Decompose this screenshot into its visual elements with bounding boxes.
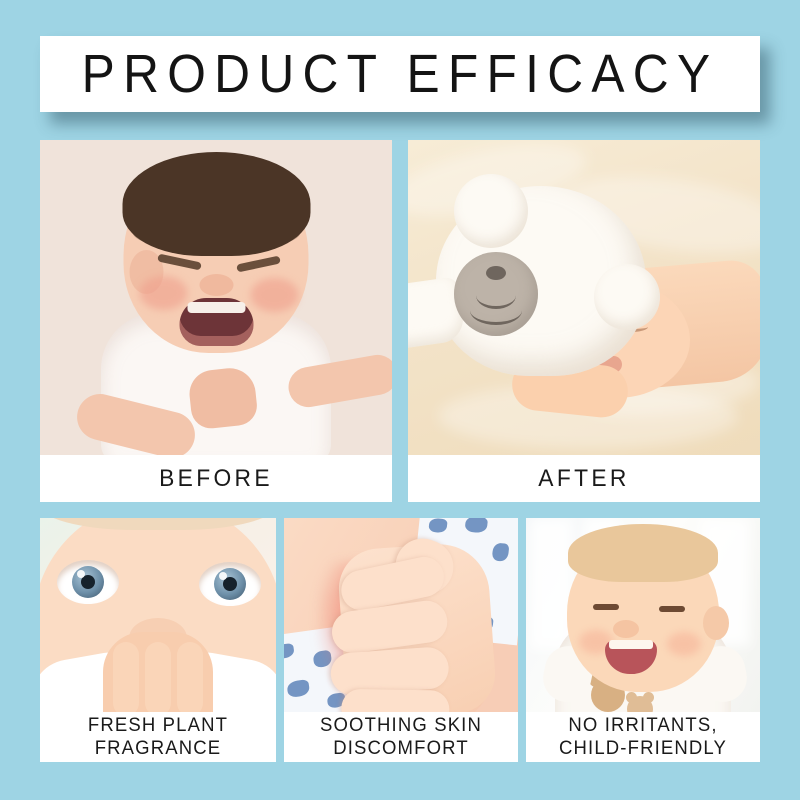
benefit-caption-no-irritants-child-friendly: NO IRRITANTS, CHILD-FRIENDLY: [532, 712, 754, 762]
benefit-caption-soothing-skin-discomfort: SOOTHING SKIN DISCOMFORT: [290, 712, 512, 762]
hand-shape: [103, 632, 213, 712]
caption-line-2: CHILD-FRIENDLY: [559, 737, 727, 760]
finger: [329, 646, 450, 696]
left-eye: [593, 604, 619, 610]
eye-glint: [77, 570, 85, 578]
head-shape: [567, 534, 719, 692]
floral-dot: [465, 518, 489, 534]
bear-print-small: [627, 696, 653, 712]
scratching-hand-shape: [336, 541, 497, 712]
hand-shape: [187, 366, 259, 431]
after-caption-text: AFTER: [538, 465, 629, 493]
nose-shape: [613, 620, 639, 638]
benefit-panel-soothing-skin-discomfort: SOOTHING SKIN DISCOMFORT: [284, 518, 518, 762]
benefit-caption-fresh-plant-fragrance: FRESH PLANT FRAGRANCE: [46, 712, 270, 762]
product-efficacy-poster: PRODUCT EFFICACY: [0, 0, 800, 800]
bear-face-applique: [454, 252, 538, 336]
window-light: [530, 518, 572, 650]
bear-hat-shape: [436, 186, 646, 376]
irritated-skin-photo: [284, 518, 518, 712]
right-cheek: [251, 278, 299, 312]
caption-line-1: NO IRRITANTS,: [568, 714, 717, 737]
left-iris: [72, 566, 104, 598]
head-shape: [124, 158, 309, 353]
sleeping-baby-illustration: [408, 140, 760, 455]
irritated-skin-illustration: [284, 518, 518, 712]
crying-baby-photo: [40, 140, 392, 455]
right-eye: [199, 562, 261, 606]
left-eye: [57, 560, 119, 604]
after-panel: AFTER: [408, 140, 760, 502]
before-caption-text: BEFORE: [159, 465, 273, 493]
laughing-baby-illustration: [526, 518, 760, 712]
benefit-panel-no-irritants-child-friendly: NO IRRITANTS, CHILD-FRIENDLY: [526, 518, 760, 762]
nose-shape: [199, 274, 233, 296]
left-cheek: [140, 276, 188, 310]
finger: [341, 689, 450, 712]
after-caption: AFTER: [417, 455, 751, 502]
hair-shape: [122, 152, 310, 256]
before-caption: BEFORE: [49, 455, 383, 502]
caption-line-1: FRESH PLANT: [88, 714, 228, 737]
floral-dot: [428, 518, 447, 533]
smiling-baby-illustration: [40, 518, 276, 712]
open-mouth-shape: [179, 298, 253, 346]
laughing-baby-photo: [526, 518, 760, 712]
right-cheek: [667, 632, 701, 656]
floral-dot: [284, 643, 295, 660]
title-banner: PRODUCT EFFICACY: [40, 36, 760, 112]
bear-smile: [470, 296, 522, 325]
hat-ear-right: [594, 264, 660, 330]
right-eye: [659, 606, 685, 612]
smiling-baby-closeup-photo: [40, 518, 276, 712]
left-eye-closed: [157, 254, 202, 271]
floral-dot: [492, 542, 510, 562]
bear-nose: [486, 266, 506, 280]
hair-shape: [40, 518, 276, 530]
hat-ear-left: [454, 174, 528, 248]
eye-glint: [219, 572, 227, 580]
sleeping-baby-photo: [408, 140, 760, 455]
before-panel: BEFORE: [40, 140, 392, 502]
right-iris: [214, 568, 246, 600]
floral-dot: [286, 679, 310, 698]
hair-shape: [568, 524, 718, 582]
laughing-mouth-shape: [605, 640, 657, 674]
crying-baby-illustration: [40, 140, 392, 455]
finger: [177, 642, 203, 712]
page-title: PRODUCT EFFICACY: [82, 47, 719, 101]
benefit-panel-fresh-plant-fragrance: FRESH PLANT FRAGRANCE: [40, 518, 276, 762]
finger: [113, 642, 139, 712]
ear-shape: [703, 606, 729, 640]
caption-line-2: DISCOMFORT: [333, 737, 469, 760]
caption-line-1: SOOTHING SKIN: [320, 714, 482, 737]
finger: [145, 642, 171, 712]
caption-line-2: FRAGRANCE: [95, 737, 222, 760]
right-eye-closed: [236, 256, 281, 273]
